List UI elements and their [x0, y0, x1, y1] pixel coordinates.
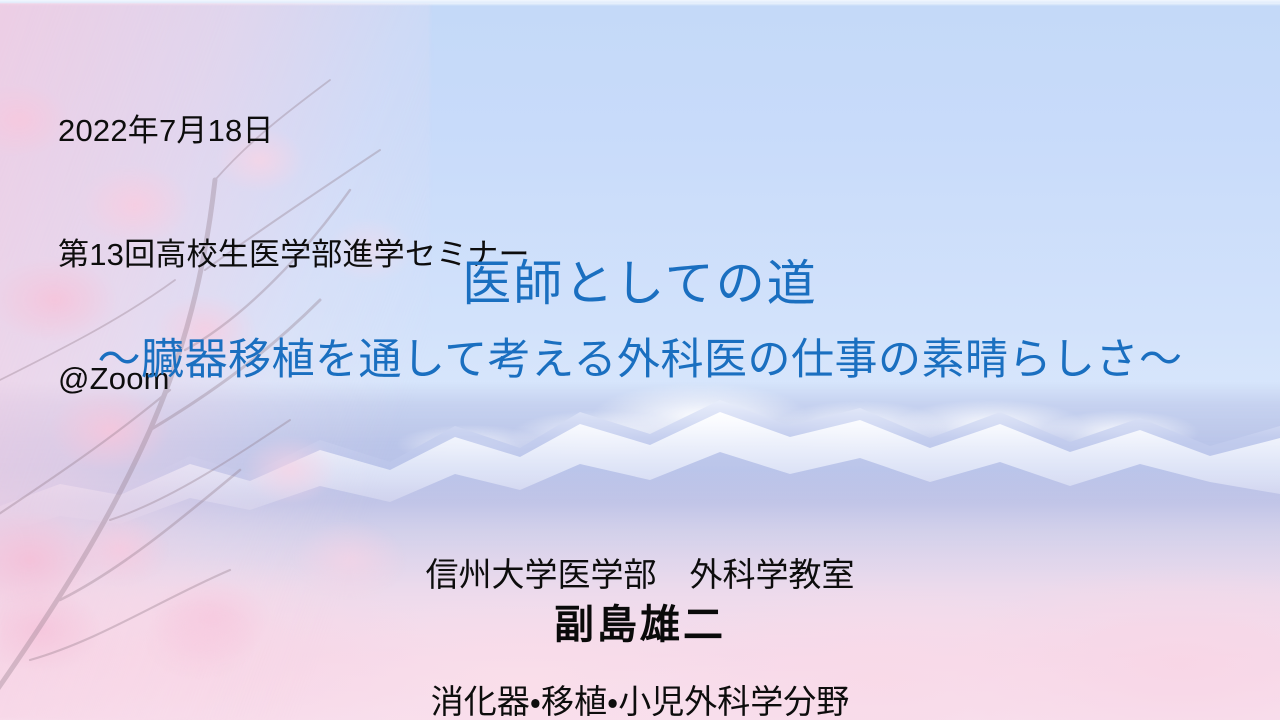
page-title: 医師としての道	[0, 258, 1280, 312]
event-date: 2022年7月18日	[58, 110, 530, 151]
presenter-name: 副島雄二	[0, 592, 1280, 650]
page-subtitle: 〜臓器移植を通して考える外科医の仕事の素晴らしさ〜	[0, 337, 1280, 384]
slide-content: 2022年7月18日 第13回高校生医学部進学セミナー @Zoom 医師としての…	[0, 0, 1280, 720]
affiliation-department: 消化器・移植・小児外科学分野	[0, 681, 1280, 720]
affiliation-organization: 信州大学医学部 外科学教室	[0, 554, 1280, 596]
title-slide: 2022年7月18日 第13回高校生医学部進学セミナー @Zoom 医師としての…	[0, 0, 1280, 720]
event-header: 2022年7月18日 第13回高校生医学部進学セミナー @Zoom	[58, 28, 530, 481]
